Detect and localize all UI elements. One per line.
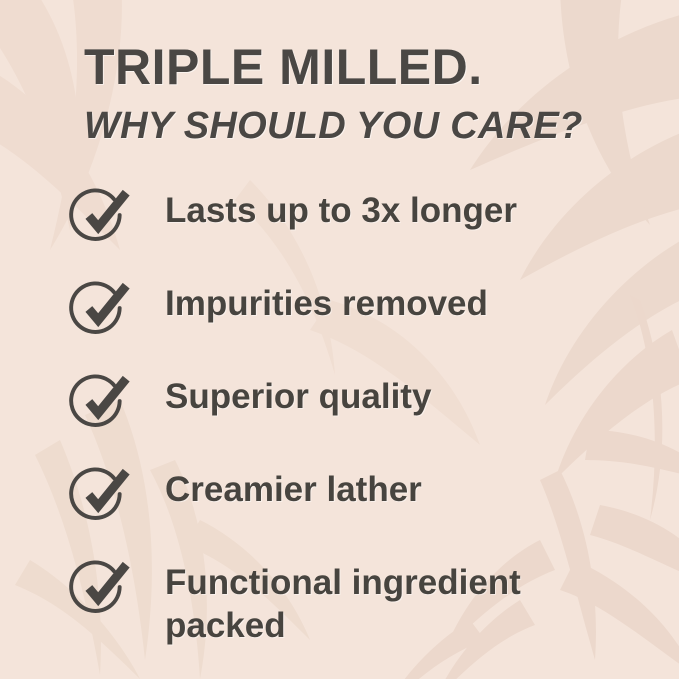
- list-item: Lasts up to 3x longer: [73, 186, 653, 279]
- list-item: Functional ingredient packed: [73, 558, 653, 651]
- check-circle-icon: [73, 560, 129, 616]
- content-layer: TRIPLE MILLED. WHY SHOULD YOU CARE? Last…: [0, 0, 679, 679]
- list-item: Impurities removed: [73, 279, 653, 372]
- list-item-label: Functional ingredient packed: [165, 558, 585, 648]
- page-title: TRIPLE MILLED.: [84, 42, 644, 93]
- benefit-list: Lasts up to 3x longer Impurities removed: [73, 186, 653, 651]
- list-item: Creamier lather: [73, 465, 653, 558]
- check-circle-icon: [73, 374, 129, 430]
- check-circle-icon: [73, 467, 129, 523]
- list-item-label: Lasts up to 3x longer: [165, 186, 517, 232]
- check-circle-icon: [73, 188, 129, 244]
- list-item-label: Impurities removed: [165, 279, 488, 325]
- headline-block: TRIPLE MILLED. WHY SHOULD YOU CARE?: [84, 42, 644, 147]
- list-item-label: Creamier lather: [165, 465, 422, 511]
- check-circle-icon: [73, 281, 129, 337]
- list-item: Superior quality: [73, 372, 653, 465]
- page-subtitle: WHY SHOULD YOU CARE?: [84, 107, 644, 147]
- infographic-canvas: TRIPLE MILLED. WHY SHOULD YOU CARE? Last…: [0, 0, 679, 679]
- list-item-label: Superior quality: [165, 372, 431, 418]
